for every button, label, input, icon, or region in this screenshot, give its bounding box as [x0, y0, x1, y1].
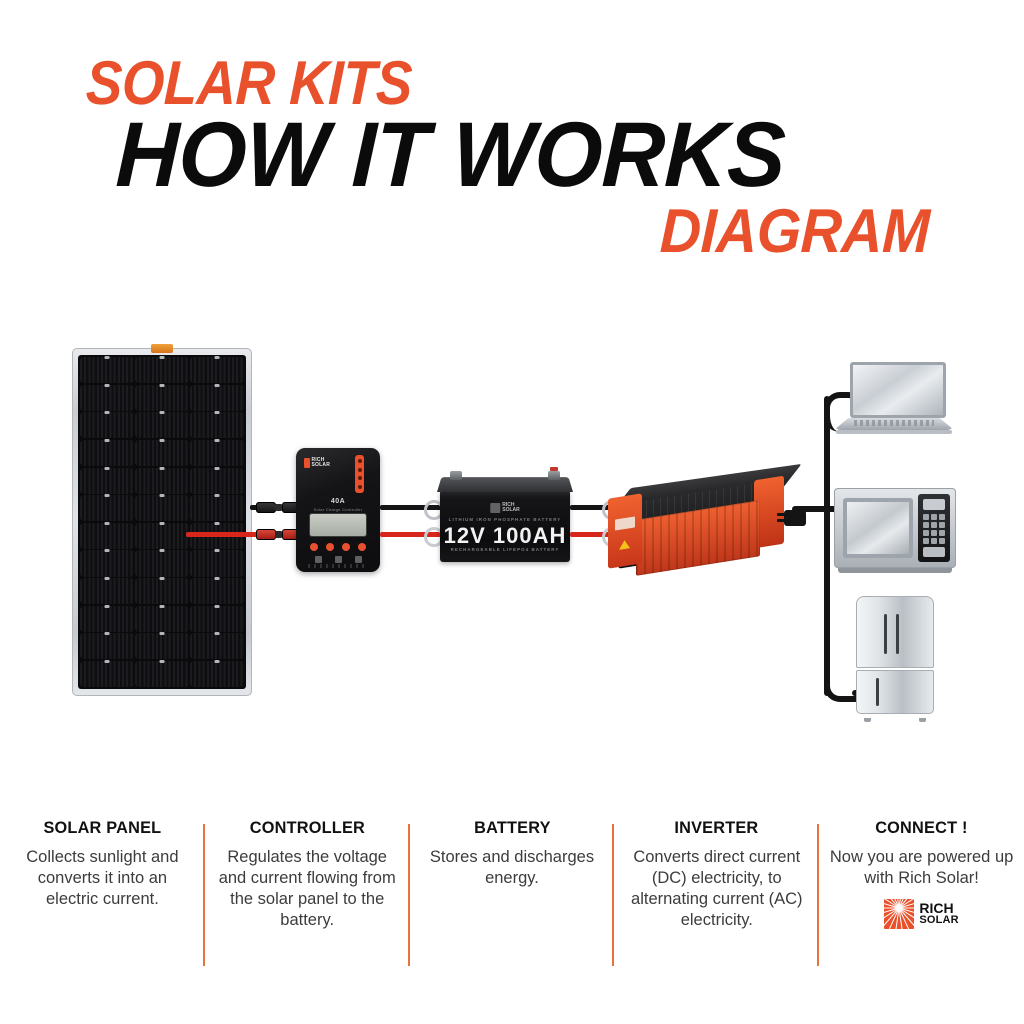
solar-cell [80, 468, 134, 494]
refrigerator-handle [884, 614, 887, 654]
controller-brand-text: RICH SOLAR [312, 458, 331, 467]
solar-cell [135, 385, 189, 411]
led-indicator [358, 468, 362, 472]
solar-cell [190, 357, 244, 383]
controller-model-label: 40A [296, 498, 380, 505]
rich-solar-logo: RICH SOLAR [829, 899, 1014, 929]
caption-solar-panel: SOLAR PANEL Collects sunlight and conver… [0, 818, 205, 998]
battery-brand-text: RICH SOLAR [502, 503, 520, 513]
caption-body: Collects sunlight and converts it into a… [10, 847, 195, 910]
caption-body: Converts direct current (DC) electricity… [624, 847, 809, 931]
controller-button-row[interactable] [310, 542, 366, 551]
mc4-connector-black-a [256, 502, 276, 513]
power-inverter [608, 470, 794, 580]
solar-cell [190, 440, 244, 466]
solar-cell [80, 661, 134, 687]
microwave-display [923, 499, 945, 510]
ac-plug-icon [784, 510, 806, 526]
battery-icon [335, 556, 342, 563]
solar-cell [190, 606, 244, 632]
solar-cell [190, 550, 244, 576]
solar-cell [135, 357, 189, 383]
microwave [834, 488, 956, 576]
controller-button[interactable] [326, 543, 334, 551]
controller-button[interactable] [342, 543, 350, 551]
panel-junction-box [151, 344, 173, 353]
refrigerator-leg [864, 718, 871, 722]
laptop-keyboard [854, 420, 934, 426]
solar-cell [135, 412, 189, 438]
caption-body: Stores and discharges energy. [420, 847, 605, 889]
load-icon [355, 556, 362, 563]
title-line-diagram: DIAGRAM [659, 196, 931, 267]
microwave-start-button [923, 547, 945, 557]
diagram-stage: RICH SOLAR 40A Solar Charge Controller [0, 300, 1024, 800]
led-indicator [358, 459, 362, 463]
panel-icon [315, 556, 322, 563]
warning-triangle-icon [619, 539, 630, 550]
solar-cell [135, 578, 189, 604]
title-block: SOLAR KITS HOW IT WORKS DIAGRAM [0, 0, 1024, 280]
controller-brand-bottom: SOLAR [312, 463, 331, 468]
solar-cell [80, 440, 134, 466]
solar-cell [190, 633, 244, 659]
solar-cell [80, 412, 134, 438]
microwave-key [923, 514, 929, 520]
logo-text-solar: SOLAR [919, 914, 959, 926]
caption-title: CONNECT ! [833, 818, 1010, 838]
solar-cell [80, 523, 134, 549]
solar-cell [135, 633, 189, 659]
solar-cell [135, 550, 189, 576]
solar-cell [190, 495, 244, 521]
solar-cell [80, 606, 134, 632]
caption-title: BATTERY [423, 818, 600, 838]
solar-cell [135, 468, 189, 494]
solar-panel [72, 348, 252, 696]
solar-cell [135, 523, 189, 549]
solar-diagram-page: SOLAR KITS HOW IT WORKS DIAGRAM RICH SOL… [0, 0, 1024, 1024]
microwave-key [931, 514, 937, 520]
controller-button[interactable] [358, 543, 366, 551]
microwave-key [931, 538, 937, 544]
mc4-connector-red-a [256, 529, 276, 540]
solar-cell [80, 633, 134, 659]
caption-title: CONTROLLER [218, 818, 395, 838]
rich-solar-wordmark: RICH SOLAR [919, 902, 959, 926]
battery-microtext-top: LITHIUM IRON PHOSPHATE BATTERY [440, 517, 570, 522]
solar-cell [80, 578, 134, 604]
solar-cell [135, 606, 189, 632]
controller-led-strip [355, 455, 364, 493]
solar-cell [190, 385, 244, 411]
caption-row: SOLAR PANEL Collects sunlight and conver… [0, 818, 1024, 998]
inverter-end-cap-left [608, 493, 642, 568]
solar-cell [135, 440, 189, 466]
laptop [834, 362, 954, 440]
caption-battery: BATTERY Stores and discharges energy. [410, 818, 615, 998]
title-line-how-it-works: HOW IT WORKS [114, 103, 787, 208]
battery-brand-logo: RICH SOLAR [490, 503, 520, 513]
battery-brand-bottom: SOLAR [502, 508, 520, 513]
solar-cell [80, 495, 134, 521]
controller-subtitle: Solar Charge Controller [296, 507, 380, 512]
wire-inverter-trunk [792, 506, 838, 512]
microwave-key [939, 522, 945, 528]
refrigerator [856, 596, 934, 718]
microwave-key [939, 514, 945, 520]
solar-cell-grid [78, 355, 246, 689]
led-indicator [358, 476, 362, 480]
battery-terminal-negative [450, 471, 462, 480]
controller-lcd-screen [310, 514, 366, 536]
solar-cell [190, 468, 244, 494]
caption-inverter: INVERTER Converts direct current (DC) el… [614, 818, 819, 998]
controller-status-icons [308, 554, 368, 564]
rich-solar-sun-icon [884, 899, 914, 929]
battery-microtext-bottom: RECHARGEABLE LIFEPO4 BATTERY [440, 547, 570, 552]
microwave-key [931, 522, 937, 528]
solar-cell [190, 578, 244, 604]
microwave-door [843, 498, 913, 558]
microwave-key [939, 530, 945, 536]
refrigerator-handle [876, 678, 879, 706]
solar-cell [80, 385, 134, 411]
solar-cell [190, 412, 244, 438]
laptop-screen [850, 362, 946, 418]
caption-title: SOLAR PANEL [14, 818, 191, 838]
solar-cell [80, 357, 134, 383]
microwave-keypad [923, 514, 945, 544]
solar-cell [190, 661, 244, 687]
solar-cell [135, 661, 189, 687]
refrigerator-upper-door [856, 596, 934, 668]
microwave-control-panel [918, 494, 950, 562]
logo-text-rich: RICH [919, 902, 959, 914]
caption-title: INVERTER [628, 818, 805, 838]
microwave-key [923, 538, 929, 544]
microwave-base [838, 568, 952, 573]
solar-cell [80, 550, 134, 576]
controller-vents [308, 564, 368, 568]
caption-controller: CONTROLLER Regulates the voltage and cur… [205, 818, 410, 998]
microwave-key [931, 530, 937, 536]
caption-connect: CONNECT ! Now you are powered up with Ri… [819, 818, 1024, 998]
microwave-key [923, 522, 929, 528]
microwave-key [923, 530, 929, 536]
microwave-key [939, 538, 945, 544]
battery-capacity-label: 12V 100AH [440, 523, 570, 549]
battery: RICH SOLAR LITHIUM IRON PHOSPHATE BATTER… [440, 490, 570, 562]
led-indicator [358, 485, 362, 489]
controller-button[interactable] [310, 543, 318, 551]
refrigerator-leg [919, 718, 926, 722]
caption-body: Now you are powered up with Rich Solar! [829, 847, 1014, 889]
battery-terminal-positive [548, 471, 560, 480]
rich-solar-sun-icon [490, 503, 500, 513]
solar-cell [135, 495, 189, 521]
rich-solar-sun-icon [304, 458, 310, 468]
refrigerator-handle [896, 614, 899, 654]
inverter-label-sticker [615, 516, 635, 530]
controller-brand-logo: RICH SOLAR [304, 457, 330, 468]
wire-trunk-vertical [824, 396, 830, 696]
charge-controller[interactable]: RICH SOLAR 40A Solar Charge Controller [296, 448, 380, 572]
caption-body: Regulates the voltage and current flowin… [215, 847, 400, 931]
laptop-shadow [836, 430, 952, 434]
refrigerator-lower-door [856, 670, 934, 714]
